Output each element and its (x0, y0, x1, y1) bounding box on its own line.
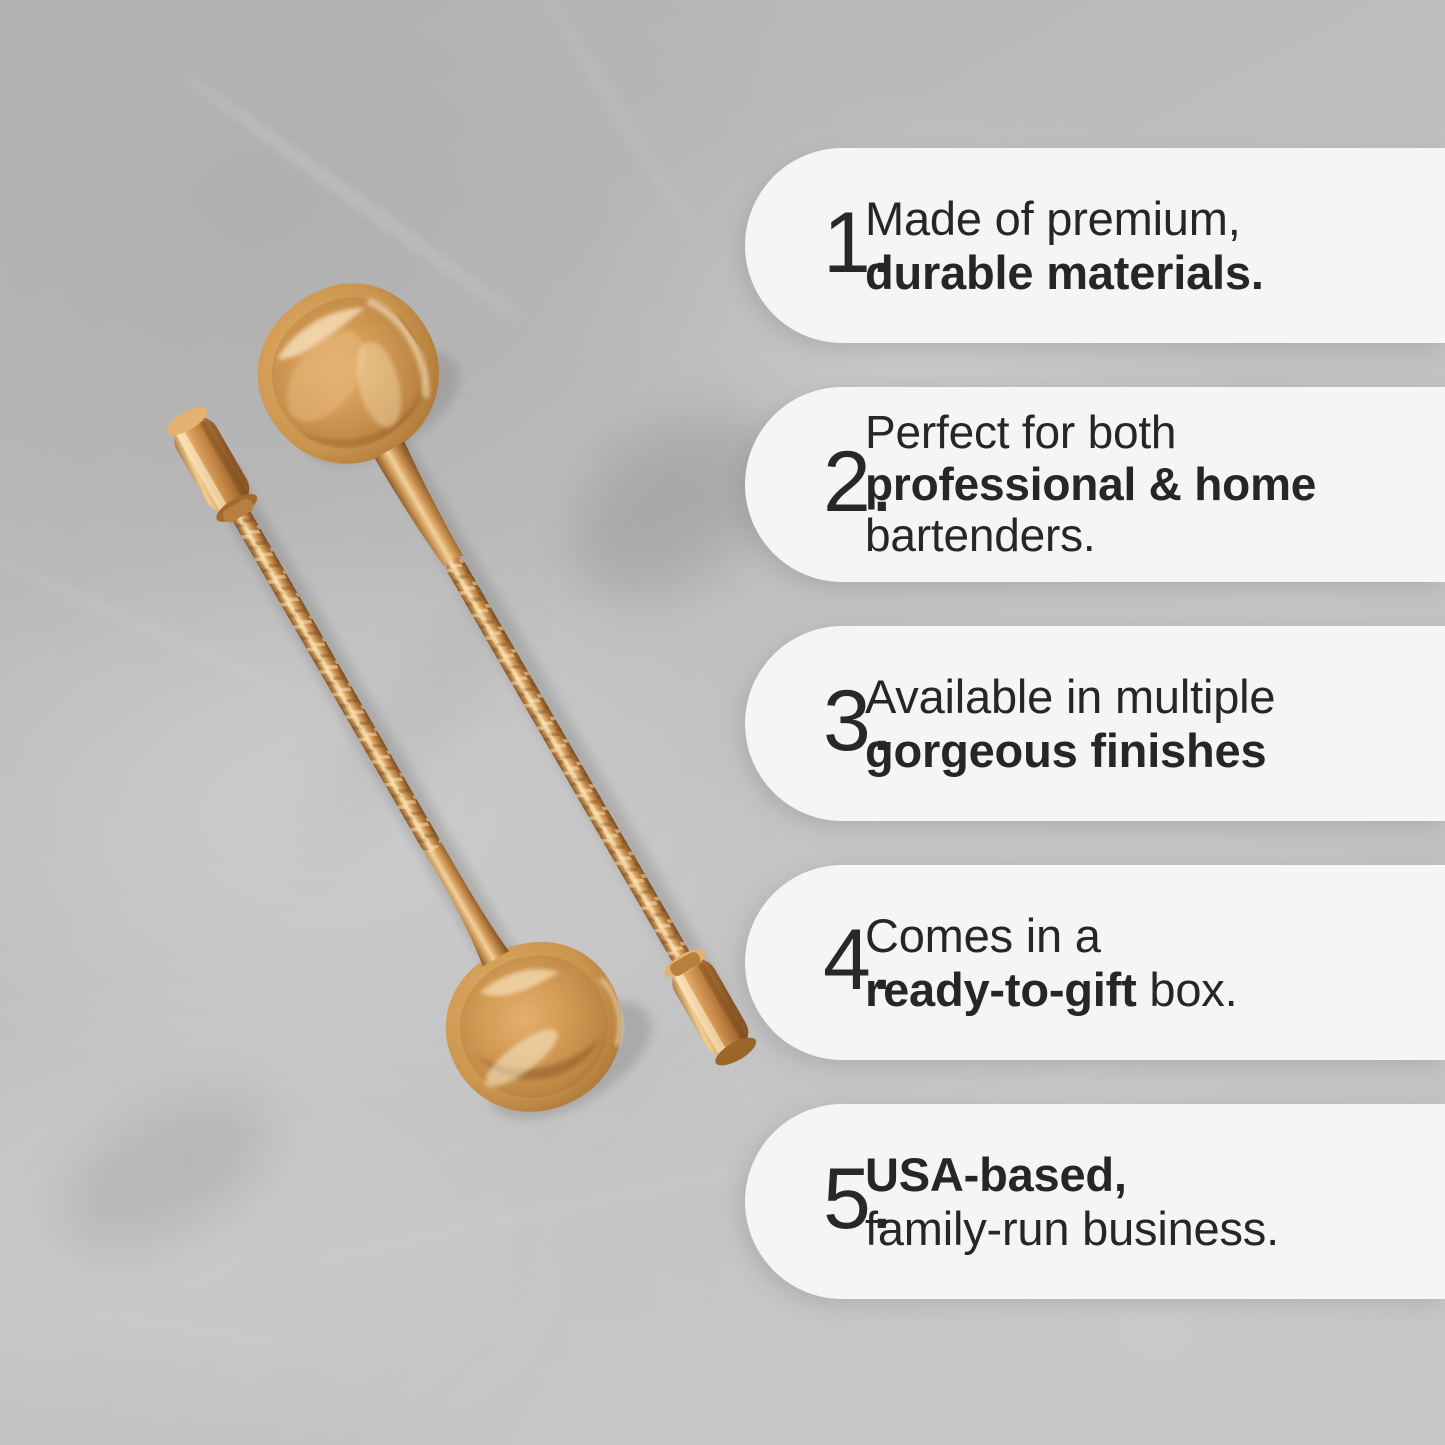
feature-number-2: 2. (745, 439, 865, 531)
feature-number-3: 3. (745, 678, 865, 770)
spoon-end-cap-left (162, 402, 261, 528)
feature-text-3: Available in multiple gorgeous finishes (865, 670, 1445, 776)
feature-3-line2-bold: gorgeous finishes (865, 724, 1266, 777)
feature-2-line1: Perfect for both (865, 406, 1176, 458)
feature-1-line2-bold: durable materials. (865, 246, 1264, 299)
product-photo-copper-bar-spoons (0, 0, 780, 1445)
spoon-bowl-left (421, 916, 648, 1138)
feature-3-line1: Available in multiple (865, 670, 1275, 723)
feature-text-1: Made of premium, durable materials. (865, 192, 1445, 298)
bar-spoons-illustration (0, 0, 780, 1445)
feature-text-5: USA-based, family-run business. (865, 1148, 1445, 1254)
feature-card-4[interactable]: 4. Comes in a ready-to-gift box. (745, 865, 1445, 1060)
feature-5-line1-bold: USA-based, (865, 1148, 1127, 1201)
feature-card-2[interactable]: 2. Perfect for both professional & home … (745, 387, 1445, 582)
feature-4-line2-plain: box. (1137, 963, 1238, 1016)
feature-4-line1: Comes in a (865, 909, 1101, 962)
feature-card-1[interactable]: 1. Made of premium, durable materials. (745, 148, 1445, 343)
spoon-neck-left (419, 840, 509, 966)
feature-text-2: Perfect for both professional & home bar… (865, 407, 1445, 563)
feature-2-line3: bartenders. (865, 509, 1096, 561)
infographic-canvas: 1. Made of premium, durable materials. 2… (0, 0, 1445, 1445)
feature-2-line2-bold: professional & home (865, 458, 1316, 510)
feature-number-4: 4. (745, 917, 865, 1009)
spoon-bowl-right (225, 250, 474, 498)
feature-4-line2-bold: ready-to-gift (865, 963, 1137, 1016)
spoon-neck-right (375, 442, 468, 570)
feature-list: 1. Made of premium, durable materials. 2… (745, 148, 1445, 1299)
spoon-shaft-left (223, 494, 443, 855)
feature-number-1: 1. (745, 200, 865, 292)
feature-5-line2: family-run business. (865, 1202, 1279, 1255)
feature-card-3[interactable]: 3. Available in multiple gorgeous finish… (745, 626, 1445, 821)
feature-1-line1: Made of premium, (865, 192, 1241, 245)
feature-number-5: 5. (745, 1156, 865, 1248)
feature-card-5[interactable]: 5. USA-based, family-run business. (745, 1104, 1445, 1299)
feature-text-4: Comes in a ready-to-gift box. (865, 909, 1445, 1015)
